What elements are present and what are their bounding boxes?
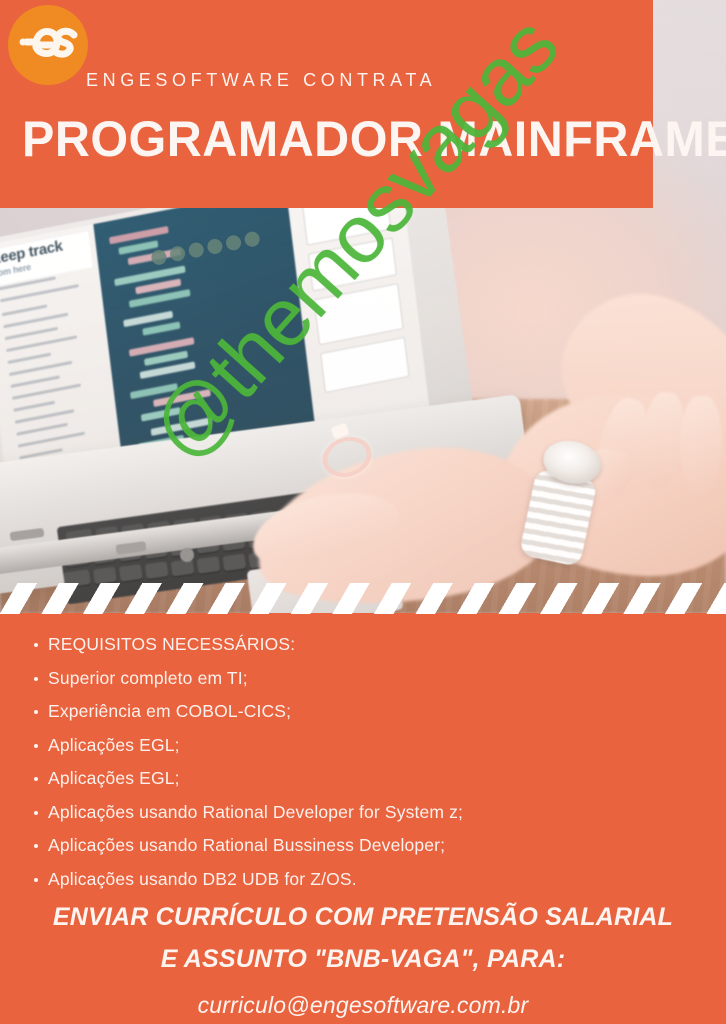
page-title: PROGRAMADOR MAINFRAME	[22, 110, 726, 168]
header-banner: ENGESOFTWARE CONTRATA PROGRAMADOR MAINFR…	[0, 0, 653, 208]
list-item: Superior completo em TI;	[30, 662, 696, 696]
requirements-list: REQUISITOS NECESSÁRIOS: Superior complet…	[30, 628, 696, 896]
list-item: Aplicações usando Rational Developer for…	[30, 796, 696, 830]
contact-email[interactable]: curriculo@engesoftware.com.br	[0, 982, 726, 1024]
list-item: Aplicações EGL;	[30, 762, 696, 796]
diagonal-stripe-divider	[0, 583, 726, 614]
list-item: Aplicações EGL;	[30, 729, 696, 763]
job-poster: Keep track from here	[0, 0, 726, 1024]
content-panel: REQUISITOS NECESSÁRIOS: Superior complet…	[0, 613, 726, 1024]
cta-line-2: E ASSUNTO "BNB-VAGA", PARA:	[0, 938, 726, 980]
engesoftware-logo	[8, 5, 88, 85]
list-item: Aplicações usando DB2 UDB for Z/OS.	[30, 863, 696, 897]
watch-band	[519, 468, 598, 567]
list-item: REQUISITOS NECESSÁRIOS:	[30, 628, 696, 662]
list-item: Experiência em COBOL-CICS;	[30, 695, 696, 729]
header-subtitle: ENGESOFTWARE CONTRATA	[86, 70, 436, 91]
call-to-action: ENVIAR CURRÍCULO COM PRETENSÃO SALARIAL …	[0, 896, 726, 1024]
cta-line-1: ENVIAR CURRÍCULO COM PRETENSÃO SALARIAL	[0, 896, 726, 938]
list-item: Aplicações usando Rational Bussiness Dev…	[30, 829, 696, 863]
